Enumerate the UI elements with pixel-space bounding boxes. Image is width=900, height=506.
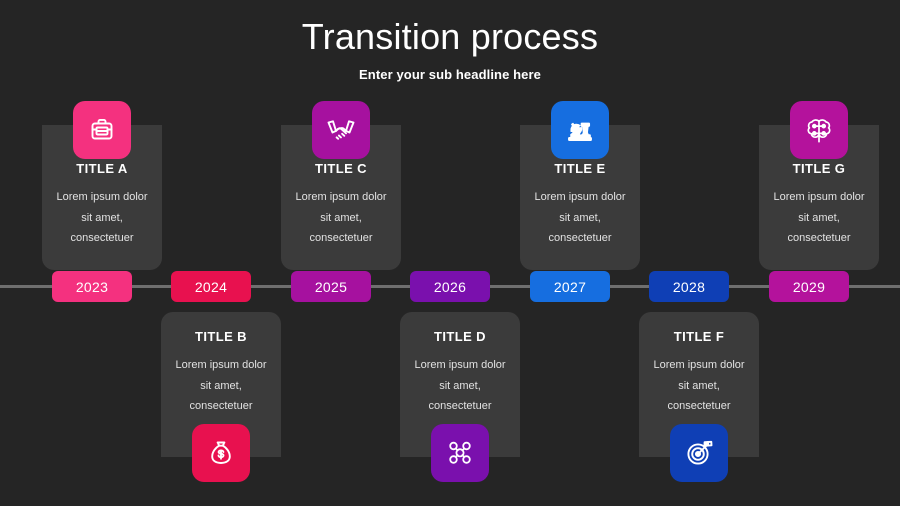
year-badge[interactable]: 2024 (171, 271, 251, 302)
timeline-stage: TITLE ALorem ipsum dolor sit amet, conse… (0, 0, 900, 506)
year-badge[interactable]: 2028 (649, 271, 729, 302)
chess-strategy-icon (564, 114, 596, 146)
timeline-step: TITLE BLorem ipsum dolor sit amet, conse… (161, 0, 281, 506)
step-icon-tile[interactable] (670, 424, 728, 482)
team-network-icon (444, 437, 476, 469)
step-icon-tile[interactable] (790, 101, 848, 159)
step-description: Lorem ipsum dolor sit amet, consectetuer (281, 187, 401, 249)
step-title: TITLE G (759, 161, 879, 177)
step-icon-tile[interactable] (312, 101, 370, 159)
money-bag-icon (205, 437, 237, 469)
step-title: TITLE F (639, 329, 759, 345)
timeline-step: TITLE ALorem ipsum dolor sit amet, conse… (42, 0, 162, 506)
step-icon-tile[interactable] (551, 101, 609, 159)
step-icon-tile[interactable] (192, 424, 250, 482)
timeline-step: TITLE GLorem ipsum dolor sit amet, conse… (759, 0, 879, 506)
step-icon-tile[interactable] (73, 101, 131, 159)
step-description: Lorem ipsum dolor sit amet, consectetuer (161, 355, 281, 417)
step-description: Lorem ipsum dolor sit amet, consectetuer (639, 355, 759, 417)
step-title: TITLE C (281, 161, 401, 177)
timeline-step: TITLE FLorem ipsum dolor sit amet, conse… (639, 0, 759, 506)
year-badge[interactable]: 2026 (410, 271, 490, 302)
step-title: TITLE D (400, 329, 520, 345)
year-badge[interactable]: 2027 (530, 271, 610, 302)
step-description: Lorem ipsum dolor sit amet, consectetuer (520, 187, 640, 249)
briefcase-icon (86, 114, 118, 146)
step-description: Lorem ipsum dolor sit amet, consectetuer (759, 187, 879, 249)
timeline-step: TITLE ELorem ipsum dolor sit amet, conse… (520, 0, 640, 506)
year-badge[interactable]: 2029 (769, 271, 849, 302)
timeline-step: TITLE CLorem ipsum dolor sit amet, conse… (281, 0, 401, 506)
step-description: Lorem ipsum dolor sit amet, consectetuer (400, 355, 520, 417)
year-badge[interactable]: 2025 (291, 271, 371, 302)
step-description: Lorem ipsum dolor sit amet, consectetuer (42, 187, 162, 249)
target-icon (683, 437, 715, 469)
year-badge[interactable]: 2023 (52, 271, 132, 302)
step-icon-tile[interactable] (431, 424, 489, 482)
step-title: TITLE A (42, 161, 162, 177)
handshake-icon (325, 114, 357, 146)
brain-network-icon (803, 114, 835, 146)
step-title: TITLE B (161, 329, 281, 345)
step-title: TITLE E (520, 161, 640, 177)
timeline-step: TITLE DLorem ipsum dolor sit amet, conse… (400, 0, 520, 506)
